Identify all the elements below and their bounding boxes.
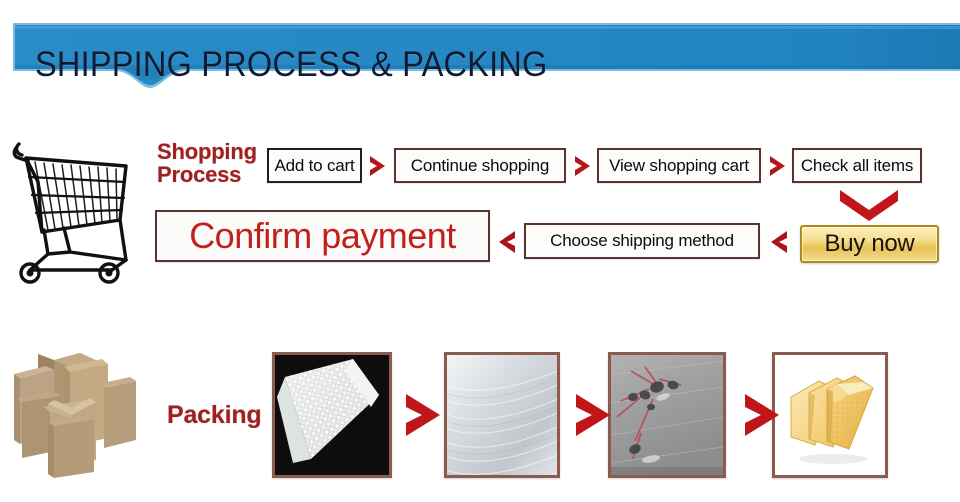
buy-now-button[interactable]: Buy now [800, 225, 939, 263]
arrow-right-icon [572, 392, 614, 438]
step-check-all-items[interactable]: Check all items [792, 148, 922, 183]
step-continue-shopping[interactable]: Continue shopping [394, 148, 566, 183]
arrow-right-icon [741, 392, 783, 438]
shopping-cart-icon [8, 136, 138, 284]
page-header-banner: SHIPPING PROCESS & PACKING [0, 18, 960, 90]
packing-label: Packing [167, 402, 261, 428]
arrow-right-icon [367, 155, 389, 177]
wrapped-parts-photo [608, 352, 726, 478]
arrow-left-icon [766, 230, 790, 254]
shopping-process-label: Shopping Process [157, 141, 257, 187]
step-view-shopping-cart[interactable]: View shopping cart [597, 148, 761, 183]
cardboard-boxes-icon [8, 340, 173, 480]
arrow-down-icon [838, 188, 900, 222]
arrow-right-icon [402, 392, 444, 438]
shopping-process-label-line2: Process [157, 164, 257, 187]
step-add-to-cart[interactable]: Add to cart [267, 148, 362, 183]
padded-envelopes-photo [772, 352, 888, 478]
bubble-wrap-roll-photo [272, 352, 392, 478]
arrow-right-icon [767, 155, 789, 177]
step-choose-shipping-method[interactable]: Choose shipping method [524, 223, 760, 259]
shopping-process-label-line1: Shopping [157, 141, 257, 164]
arrow-left-icon [494, 230, 518, 254]
step-confirm-payment[interactable]: Confirm payment [155, 210, 490, 262]
page-title: SHIPPING PROCESS & PACKING [35, 43, 548, 87]
arrow-right-icon [572, 155, 594, 177]
stretch-film-photo [444, 352, 560, 478]
